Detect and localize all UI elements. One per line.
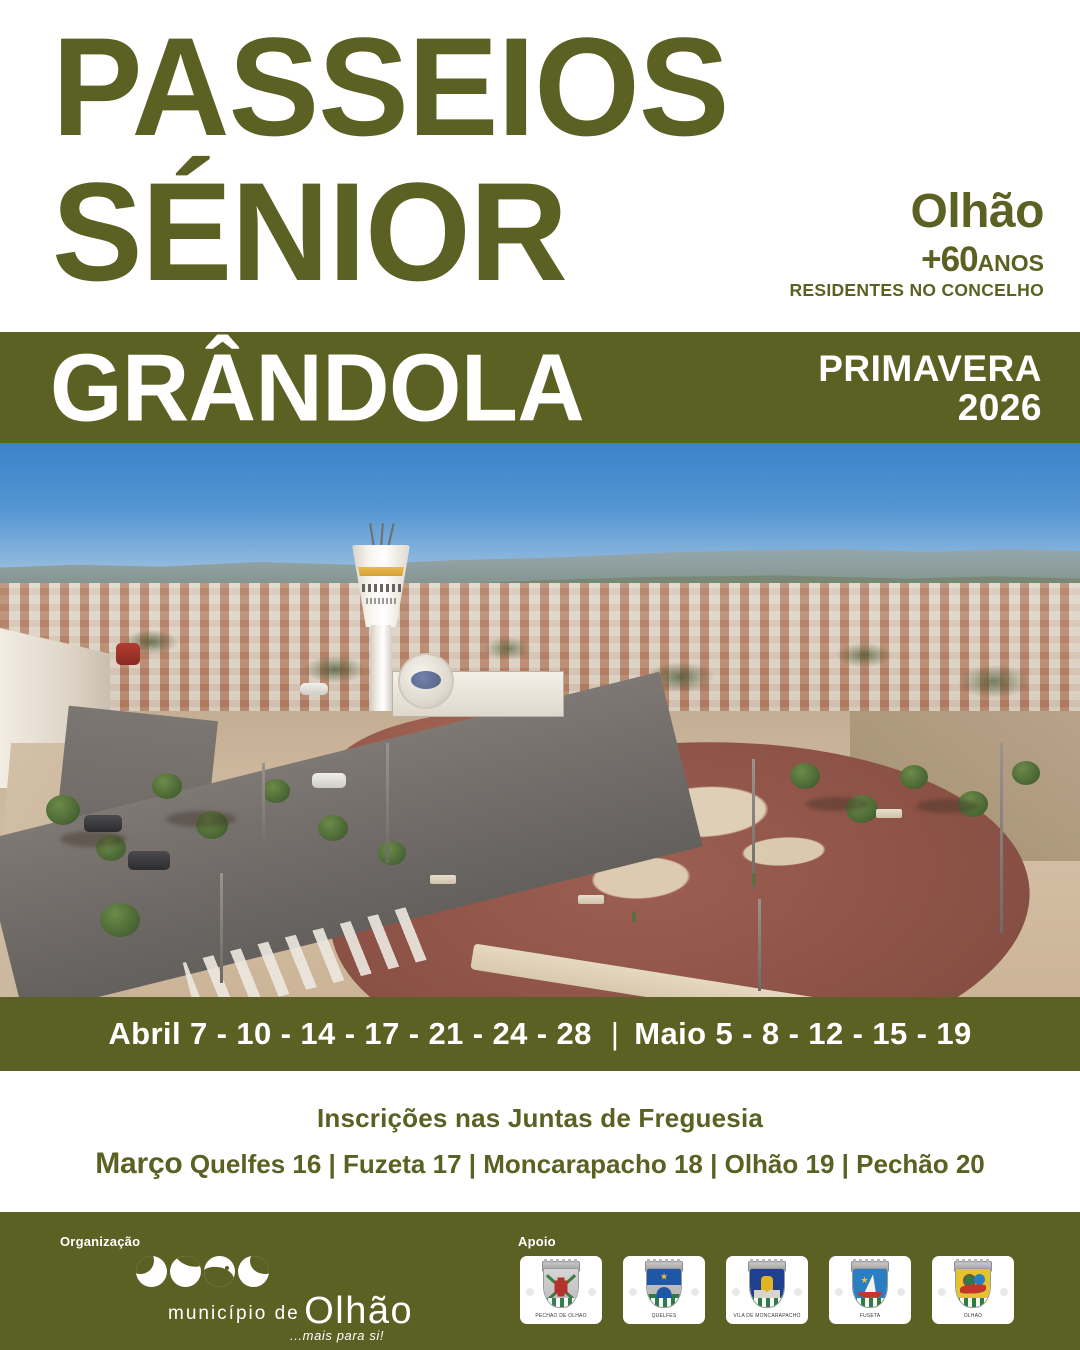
- photo-car: [84, 815, 122, 832]
- inscriptions-line: Março Quelfes 16 | Fuzeta 17 | Moncarapa…: [95, 1147, 985, 1181]
- inscriptions-month: Março: [95, 1147, 182, 1180]
- dates-may-days: 5 - 8 - 12 - 15 - 19: [716, 1016, 972, 1051]
- photo-lamp-post: [758, 899, 761, 991]
- dates-band: Abril 7 - 10 - 14 - 17 - 21 - 24 - 28 | …: [0, 997, 1080, 1071]
- crest-label: FUSETA: [829, 1313, 911, 1319]
- antenna-icon: [380, 523, 384, 547]
- photo-bench: [876, 809, 902, 818]
- crest-quelfes-icon: ★ QUELFES: [623, 1256, 705, 1324]
- crest-fuseta-icon: ★ FUSETA: [829, 1256, 911, 1324]
- title-line-2: SÉNIOR: [52, 163, 728, 300]
- dates-april-label: Abril: [108, 1016, 181, 1051]
- photo-tree: [318, 815, 348, 841]
- audience-age: +60ANOS: [789, 242, 1044, 277]
- inscriptions-title: Inscrições nas Juntas de Freguesia: [317, 1103, 763, 1134]
- photo-tree: [1012, 761, 1040, 785]
- hero-photo: [0, 443, 1080, 997]
- dates-april-days: 7 - 10 - 14 - 17 - 21 - 24 - 28: [190, 1016, 592, 1051]
- season-year: 2026: [818, 388, 1042, 427]
- photo-car: [312, 773, 346, 788]
- photo-tree-shadow: [166, 811, 236, 827]
- photo-person: [632, 911, 636, 923]
- municipality-tagline: ...mais para si!: [290, 1328, 384, 1343]
- photo-lamp-post: [262, 763, 265, 859]
- audience-residency: RESIDENTES NO CONCELHO: [789, 280, 1044, 301]
- crest-olhao-icon: OLHÃO: [932, 1256, 1014, 1324]
- logo-mark-wave-icon: [170, 1256, 201, 1287]
- tower-subtext: [366, 598, 396, 604]
- photo-tree-shadow: [60, 831, 126, 847]
- photo-car: [128, 851, 170, 870]
- antenna-icon: [387, 523, 394, 547]
- audience-block: Olhão +60ANOS RESIDENTES NO CONCELHO: [789, 188, 1044, 301]
- photo-bench: [430, 875, 456, 884]
- municipality-logo-marks: [136, 1256, 269, 1287]
- crest-label: VILA DE MONCARAPACHO: [726, 1313, 808, 1319]
- dates-text: Abril 7 - 10 - 14 - 17 - 21 - 24 - 28 | …: [108, 1016, 971, 1052]
- tower-stripe: [358, 567, 404, 576]
- destination-band: GRÂNDOLA PRIMAVERA 2026: [0, 332, 1080, 443]
- photo-tree: [152, 773, 182, 799]
- municipality-wordmark: município de Olhão: [168, 1290, 413, 1333]
- photo-sign-disc: [398, 653, 454, 709]
- photo-lamp-post: [386, 743, 389, 863]
- crest-shield: [749, 1268, 785, 1308]
- dates-may-label: Maio: [634, 1016, 706, 1051]
- title-line-1: PASSEIOS: [52, 18, 728, 155]
- photo-tree-shadow: [916, 799, 978, 813]
- photo-lamp-post: [752, 759, 755, 889]
- photo-bench: [578, 895, 604, 904]
- photo-tree: [46, 795, 80, 825]
- inscriptions-section: Inscrições nas Juntas de Freguesia Março…: [0, 1071, 1080, 1212]
- poster-footer: Organização Apoio município de Olhão ...…: [0, 1212, 1080, 1350]
- municipality-prefix: município de: [168, 1303, 300, 1324]
- photo-car: [116, 643, 140, 665]
- destination-name: GRÂNDOLA: [50, 342, 584, 433]
- season-word: PRIMAVERA: [818, 348, 1042, 387]
- organizer-label: Organização: [60, 1234, 140, 1249]
- season-block: PRIMAVERA 2026: [818, 348, 1042, 426]
- audience-age-number: +60: [921, 240, 977, 279]
- antenna-icon: [369, 523, 375, 547]
- crest-shield: ★: [852, 1268, 888, 1308]
- poster-header: PASSEIOS SÉNIOR Olhão +60ANOS RESIDENTES…: [0, 0, 1080, 332]
- crest-moncarapacho-icon: VILA DE MONCARAPACHO: [726, 1256, 808, 1324]
- main-title-block: PASSEIOS SÉNIOR: [52, 18, 749, 300]
- crest-pechao-icon: PECHÃO DE OLHÃO: [520, 1256, 602, 1324]
- audience-city: Olhão: [789, 188, 1044, 236]
- support-crests: PECHÃO DE OLHÃO ★ QUELFES: [520, 1256, 1014, 1324]
- municipality-name: Olhão: [304, 1290, 413, 1332]
- photo-tree: [900, 765, 928, 789]
- photo-tree: [262, 779, 290, 803]
- municipality-logo: município de Olhão ...mais para si!: [128, 1256, 388, 1336]
- photo-person: [752, 873, 756, 885]
- poster-root: PASSEIOS SÉNIOR Olhão +60ANOS RESIDENTES…: [0, 0, 1080, 1350]
- logo-mark-bird-icon: [238, 1256, 269, 1287]
- photo-lamp-post: [1000, 743, 1003, 933]
- photo-tree: [100, 903, 140, 937]
- photo-lamp-post: [220, 873, 223, 983]
- photo-car: [300, 683, 328, 695]
- crest-label: QUELFES: [623, 1313, 705, 1319]
- crest-label: OLHÃO: [932, 1313, 1014, 1319]
- crest-label: PECHÃO DE OLHÃO: [520, 1313, 602, 1319]
- photo-tree: [790, 763, 820, 789]
- crest-shield: ★: [646, 1268, 682, 1308]
- logo-mark-fish-icon: [204, 1256, 235, 1287]
- inscriptions-locations: Quelfes 16 | Fuzeta 17 | Moncarapacho 18…: [190, 1149, 985, 1179]
- photo-tree-shadow: [806, 797, 868, 811]
- logo-mark-leaf-icon: [136, 1256, 167, 1287]
- dates-separator: |: [601, 1016, 625, 1052]
- support-label: Apoio: [518, 1234, 556, 1249]
- audience-age-unit: ANOS: [978, 250, 1044, 276]
- crest-shield: [543, 1268, 579, 1308]
- crest-shield: [955, 1268, 991, 1308]
- photo-tree: [378, 841, 406, 865]
- tower-lettering: [362, 584, 402, 592]
